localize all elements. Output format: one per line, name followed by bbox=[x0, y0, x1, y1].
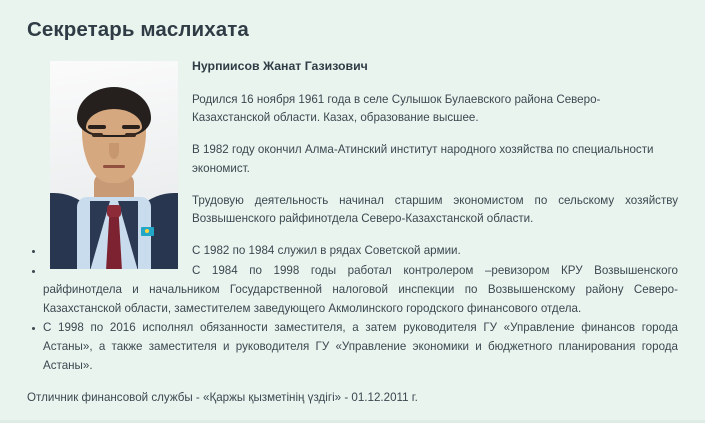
page-title: Секретарь маслихата bbox=[27, 0, 678, 43]
eyebrow-right bbox=[122, 125, 140, 129]
eye-right bbox=[125, 133, 136, 137]
profile-page: Секретарь маслихата Нурпиисов Жанат Гази… bbox=[0, 0, 705, 423]
necktie-knot bbox=[107, 205, 121, 217]
award-line: Отличник финансовой службы - «Қаржы қызм… bbox=[27, 389, 678, 408]
list-item: С 1998 по 2016 исполнял обязанности заме… bbox=[43, 319, 678, 375]
eyebrow-left bbox=[88, 125, 106, 129]
portrait-photo bbox=[50, 61, 178, 269]
mouth bbox=[103, 165, 125, 168]
eye-left bbox=[92, 133, 103, 137]
career-list: С 1982 по 1984 служил в рядах Советской … bbox=[27, 242, 678, 375]
nose bbox=[109, 143, 119, 159]
profile-content: Нурпиисов Жанат Газизович Родился 16 ноя… bbox=[27, 57, 678, 408]
list-item: С 1984 по 1998 годы работал контролером … bbox=[43, 262, 678, 318]
list-item: С 1982 по 1984 служил в рядах Советской … bbox=[43, 242, 678, 261]
kazakhstan-flag-pin-icon bbox=[141, 227, 154, 236]
